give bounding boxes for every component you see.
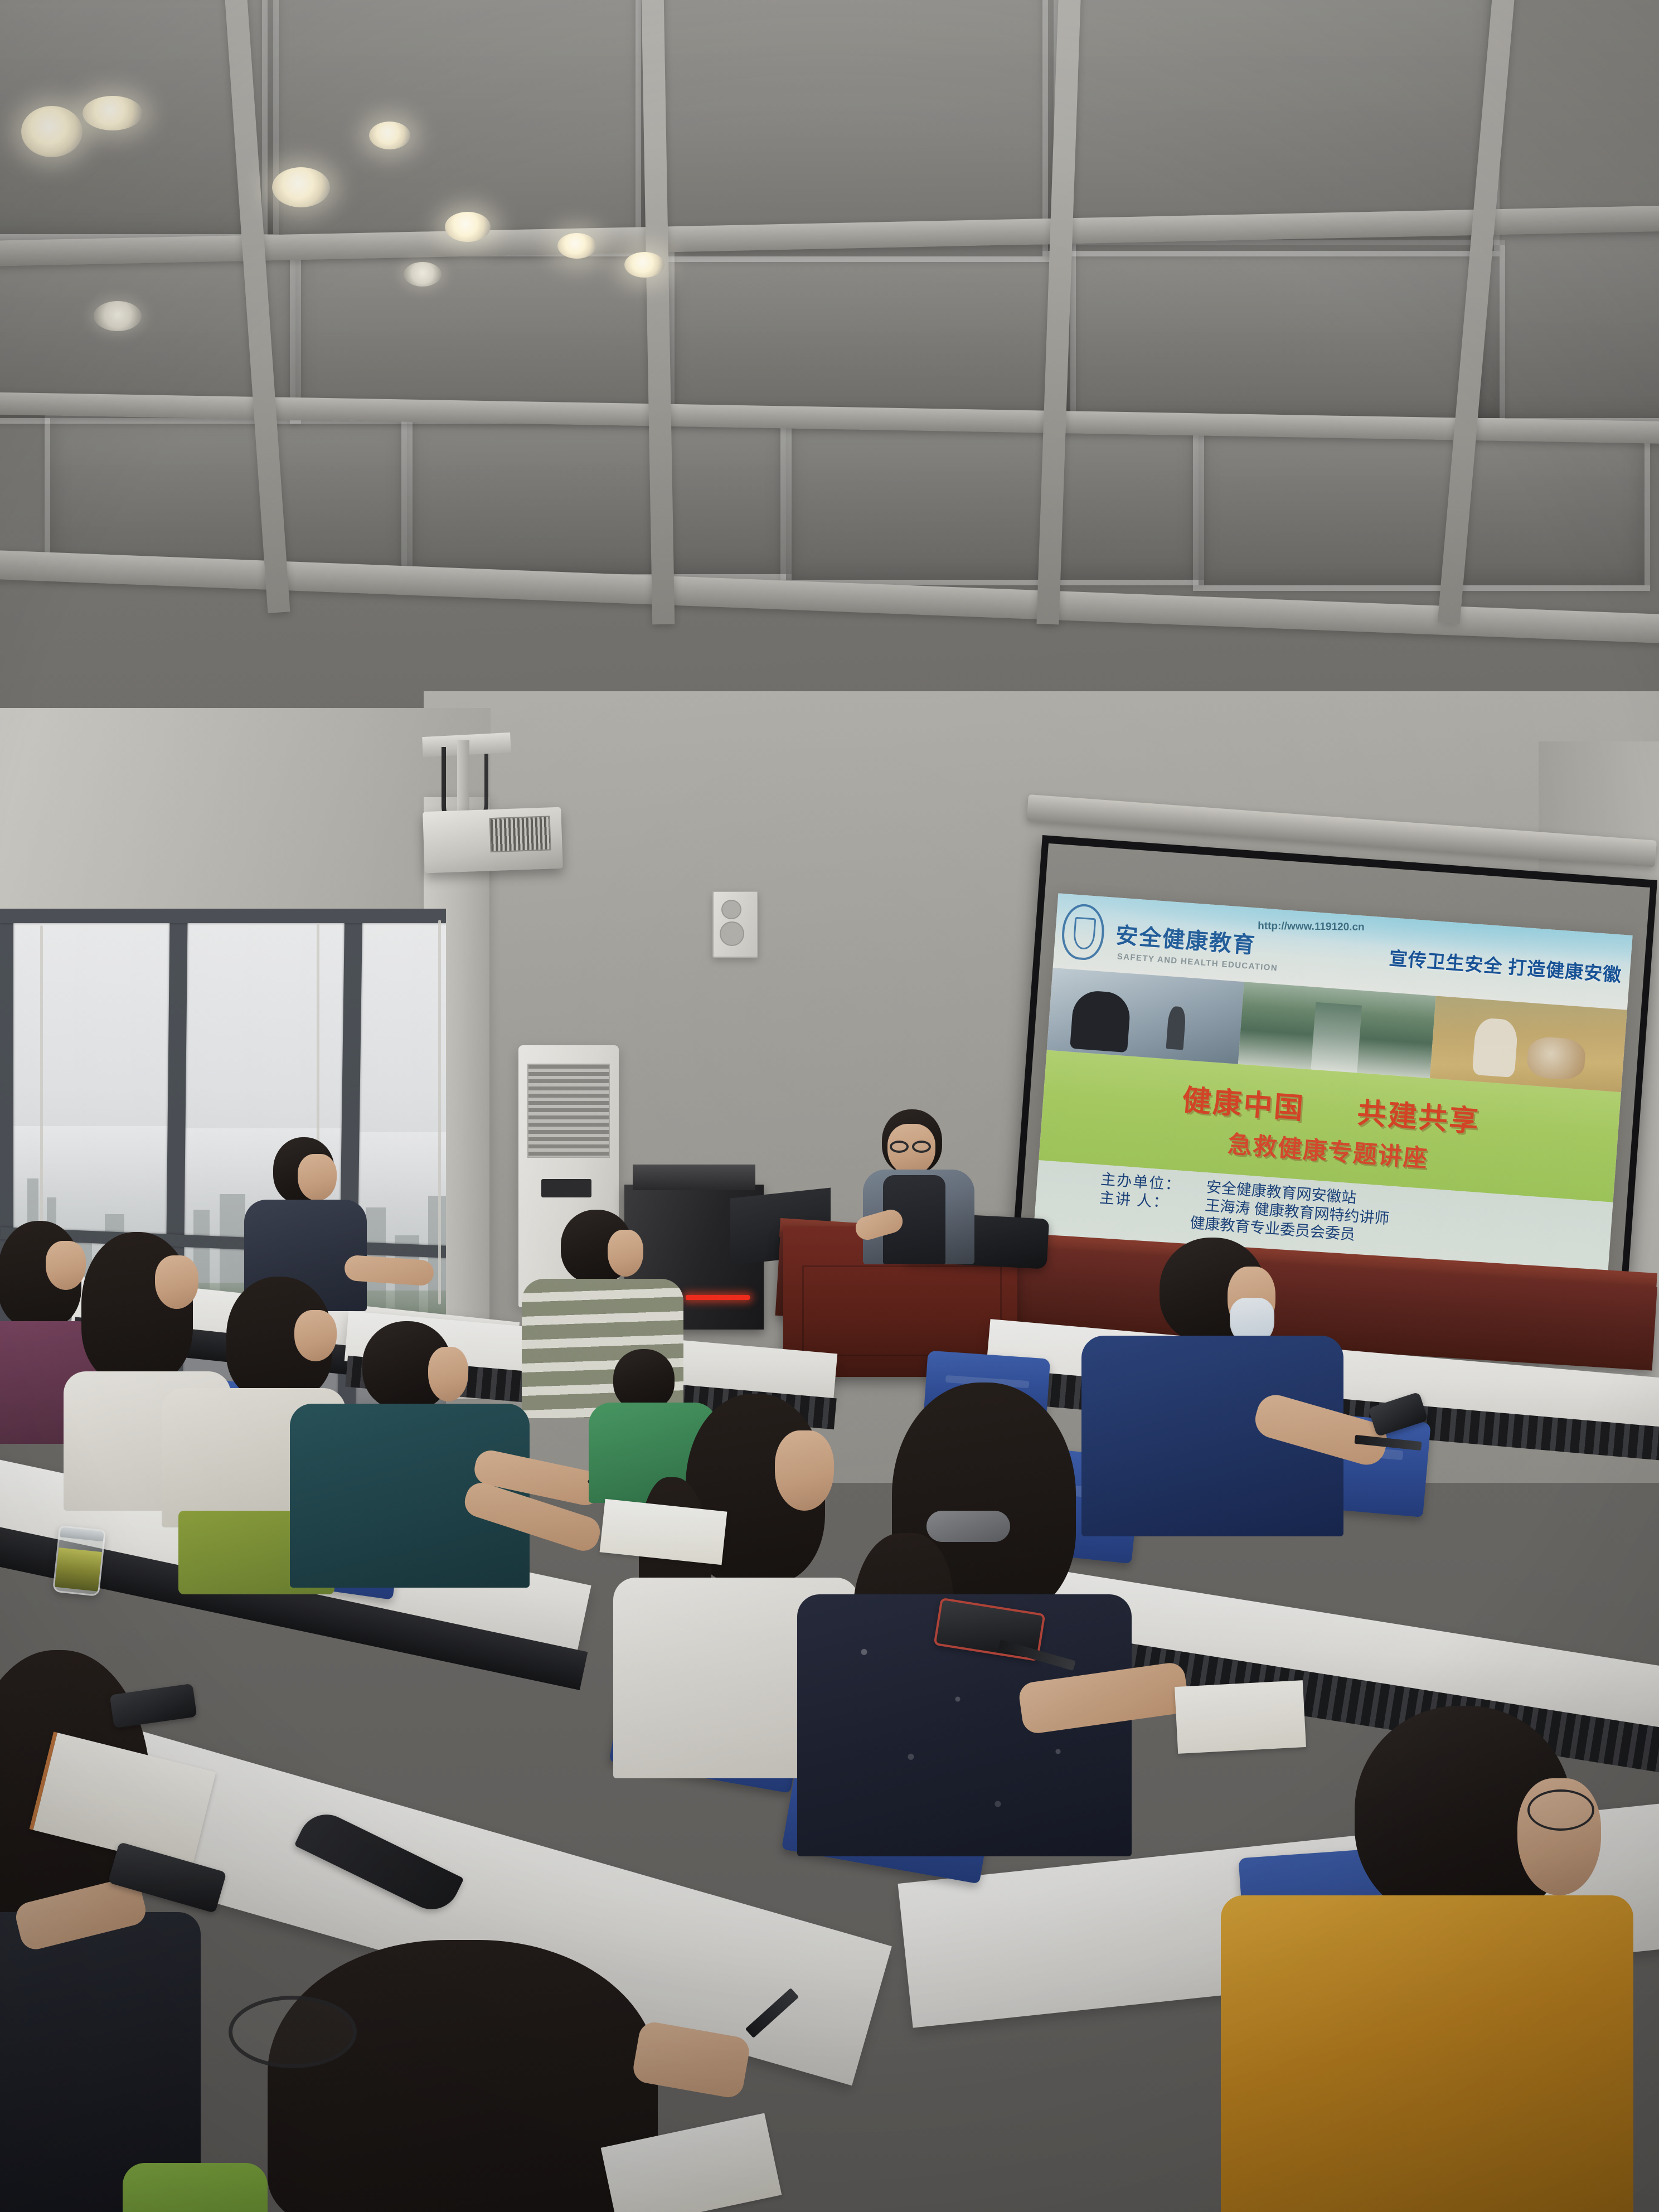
slide-title-left: 健康中国: [1181, 1084, 1306, 1126]
photo-food-field: [1430, 996, 1627, 1092]
recessed-downlight: [272, 167, 330, 207]
notebook: [1175, 1680, 1306, 1754]
photo-classroom: [1047, 968, 1244, 1064]
glasses-icon: [912, 1141, 931, 1153]
projector-vent-icon: [489, 816, 551, 852]
person-attendee-teal-polo: [295, 1321, 530, 1583]
tea-cup: [52, 1525, 106, 1597]
person-attendee-mustard-top: [1187, 1706, 1645, 2212]
photo-waterway: [1238, 982, 1435, 1078]
recessed-downlight: [445, 212, 491, 242]
projected-slide: 安全健康教育 SAFETY AND HEALTH EDUCATION http:…: [1032, 893, 1632, 1291]
recessed-downlight: [404, 262, 442, 287]
recessed-downlight: [94, 301, 142, 331]
ac-display: [541, 1179, 591, 1197]
av-power-led-icon: [686, 1295, 750, 1300]
lecture-hall-photo: 安全健康教育 SAFETY AND HEALTH EDUCATION http:…: [0, 0, 1659, 2212]
person-attendee-navy-polo-mask: [1087, 1238, 1349, 1527]
recessed-downlight: [21, 106, 83, 157]
recessed-downlight: [83, 96, 143, 130]
person-presenter: [858, 1109, 981, 1265]
recessed-downlight: [557, 233, 596, 259]
slide-title-right: 共建共享: [1356, 1097, 1481, 1138]
slide-url: http://www.119120.cn: [1258, 920, 1365, 934]
recessed-downlight: [369, 122, 410, 149]
recessed-downlight: [624, 252, 664, 278]
ceiling-projector: [423, 807, 563, 874]
ac-grille-icon: [527, 1064, 610, 1158]
glasses-icon: [890, 1141, 909, 1153]
slide-title-line1: 健康中国 共建共享: [1181, 1076, 1481, 1140]
glasses-icon: [1527, 1789, 1594, 1831]
wall-speaker: [712, 891, 758, 958]
glasses-icon: [229, 1996, 357, 2068]
hair-scrunchie: [926, 1511, 1010, 1542]
